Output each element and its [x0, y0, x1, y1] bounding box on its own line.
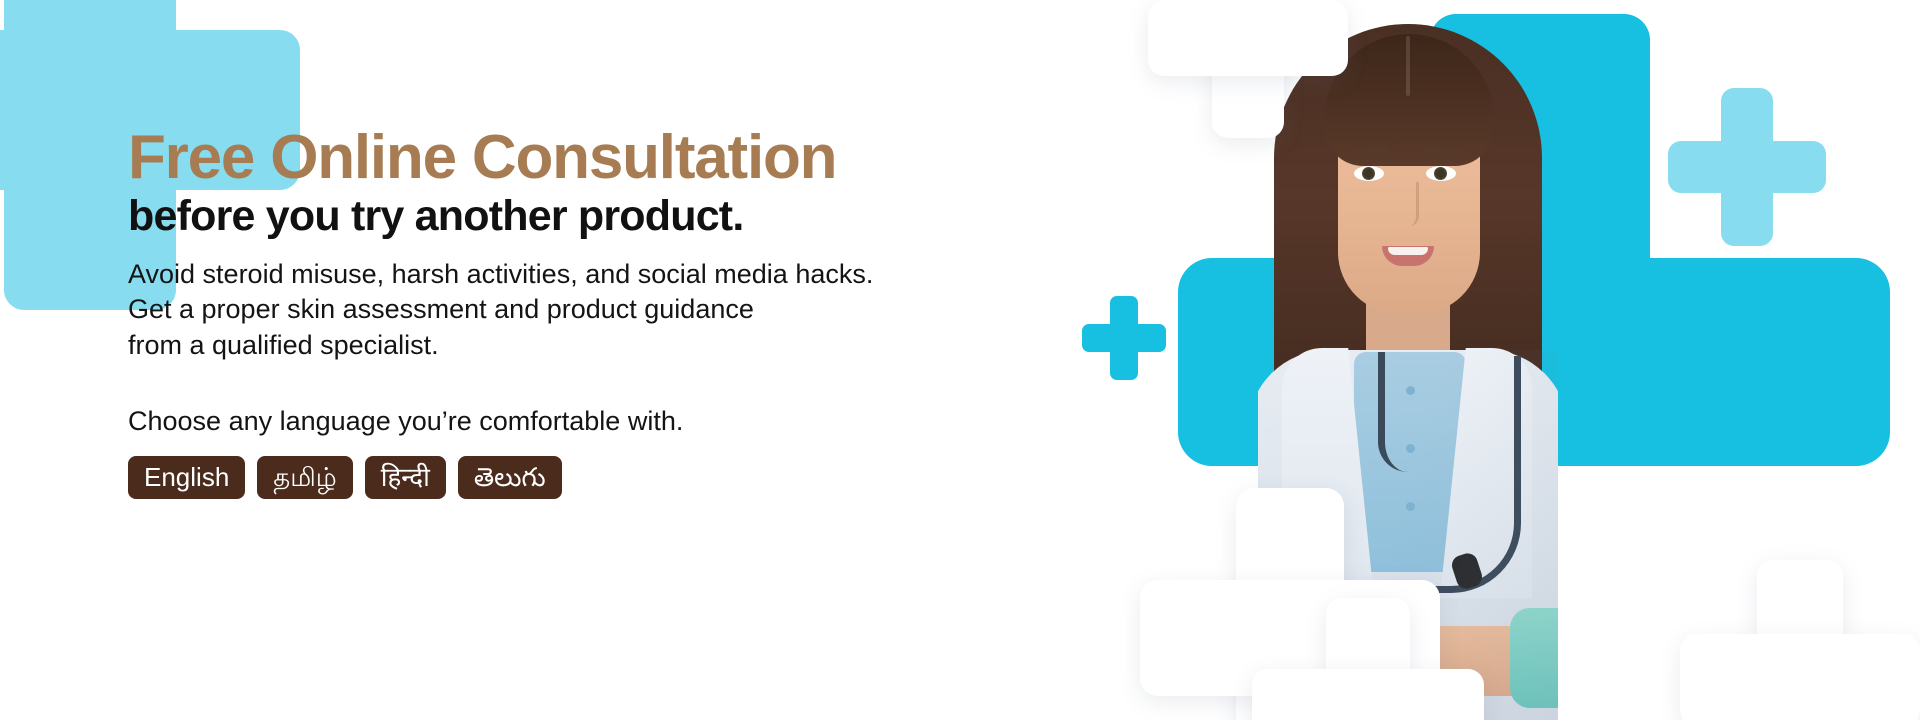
body-line: from a qualified specialist. [128, 328, 1108, 364]
hero-text-block: Free Online Consultation before you try … [128, 126, 1108, 499]
body-line: Avoid steroid misuse, harsh activities, … [128, 257, 1108, 293]
white-cross-bottom-right-icon [1680, 560, 1920, 720]
language-button-telugu[interactable]: తెలుగు [458, 456, 562, 499]
pale-cyan-cross-right-icon [1668, 88, 1826, 246]
language-button-hindi[interactable]: हिन्दी [365, 456, 446, 499]
language-button-english[interactable]: English [128, 456, 245, 499]
language-selector: English தமிழ் हिन्दी తెలుగు [128, 456, 1108, 499]
hero-banner: Free Online Consultation before you try … [0, 0, 1920, 720]
choose-language-label: Choose any language you’re comfortable w… [128, 404, 1108, 440]
white-cross-top-icon [1148, 0, 1348, 138]
language-button-tamil[interactable]: தமிழ் [257, 456, 352, 499]
white-cross-bottom-center-icon [1252, 598, 1484, 720]
body-line: Get a proper skin assessment and product… [128, 292, 1108, 328]
subheadline: before you try another product. [128, 193, 1108, 240]
body-paragraph: Avoid steroid misuse, harsh activities, … [128, 257, 1108, 365]
headline: Free Online Consultation [128, 126, 1108, 189]
